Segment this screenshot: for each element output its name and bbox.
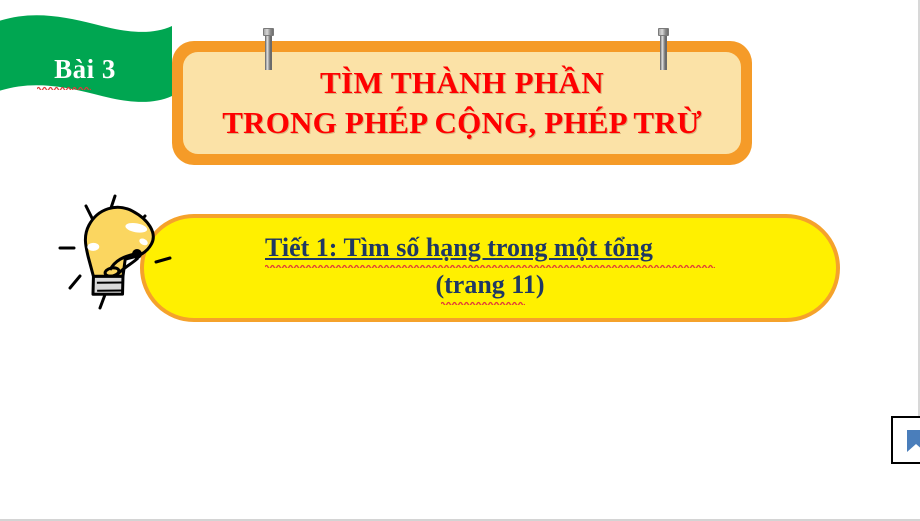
title-line-2: TRONG PHÉP CỘNG, PHÉP TRỪ (222, 103, 702, 143)
lesson-subtitle-line-1: Tiết 1: Tìm số hạng trong một tổng (265, 231, 715, 268)
lesson-number-label: Bài 3 (0, 54, 174, 85)
lesson-subtitle-text-1: Tiết 1: Tìm số hạng trong một tổng (265, 233, 653, 262)
bookmark-icon[interactable] (907, 430, 920, 452)
hanging-pin-left-icon (263, 28, 274, 70)
bookmark-panel[interactable] (891, 416, 920, 464)
pin-head (658, 28, 669, 36)
pin-head (263, 28, 274, 36)
lesson-subtitle-text-2: (trang 11) (435, 270, 544, 299)
lesson-subtitle-banner: Tiết 1: Tìm số hạng trong một tổng (tran… (140, 214, 840, 322)
light-bulb-icon (52, 192, 178, 318)
pin-shaft (265, 36, 272, 70)
lesson-number-banner: Bài 3 (0, 14, 182, 110)
lesson-subtitle-line-2: (trang 11) (435, 268, 544, 305)
spellcheck-squiggle-line-2 (441, 301, 525, 305)
pin-shaft (660, 36, 667, 70)
slide-canvas: Bài 3 TÌM THÀNH PHẦN TRONG PHÉP CỘNG, PH… (0, 0, 920, 521)
hanging-pin-right-icon (658, 28, 669, 70)
title-line-1: TÌM THÀNH PHẦN (320, 63, 604, 103)
spellcheck-squiggle-badge (37, 86, 91, 90)
